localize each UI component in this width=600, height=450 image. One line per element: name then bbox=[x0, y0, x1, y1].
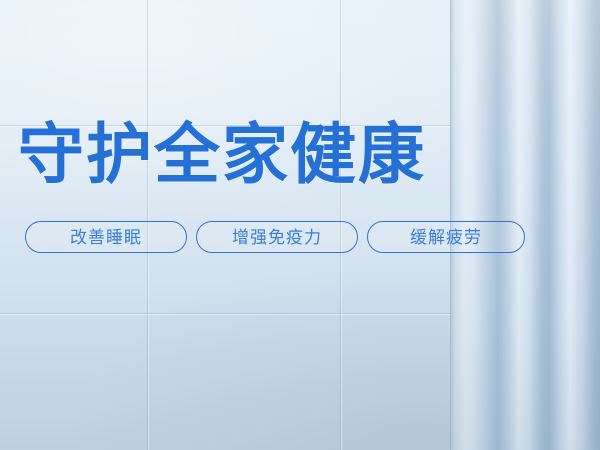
benefit-pill-improve-sleep[interactable]: 改善睡眠 bbox=[25, 221, 187, 253]
benefit-pill-boost-immunity[interactable]: 增强免疫力 bbox=[196, 221, 358, 253]
benefit-pill-relieve-fatigue[interactable]: 缓解疲劳 bbox=[367, 221, 525, 253]
promo-poster: 守护全家健康 改善睡眠 增强免疫力 缓解疲劳 bbox=[0, 0, 600, 450]
page-title: 守护全家健康 bbox=[18, 118, 426, 190]
benefit-pill-row: 改善睡眠 增强免疫力 缓解疲劳 bbox=[25, 221, 525, 253]
poster-content: 守护全家健康 改善睡眠 增强免疫力 缓解疲劳 bbox=[18, 0, 538, 450]
